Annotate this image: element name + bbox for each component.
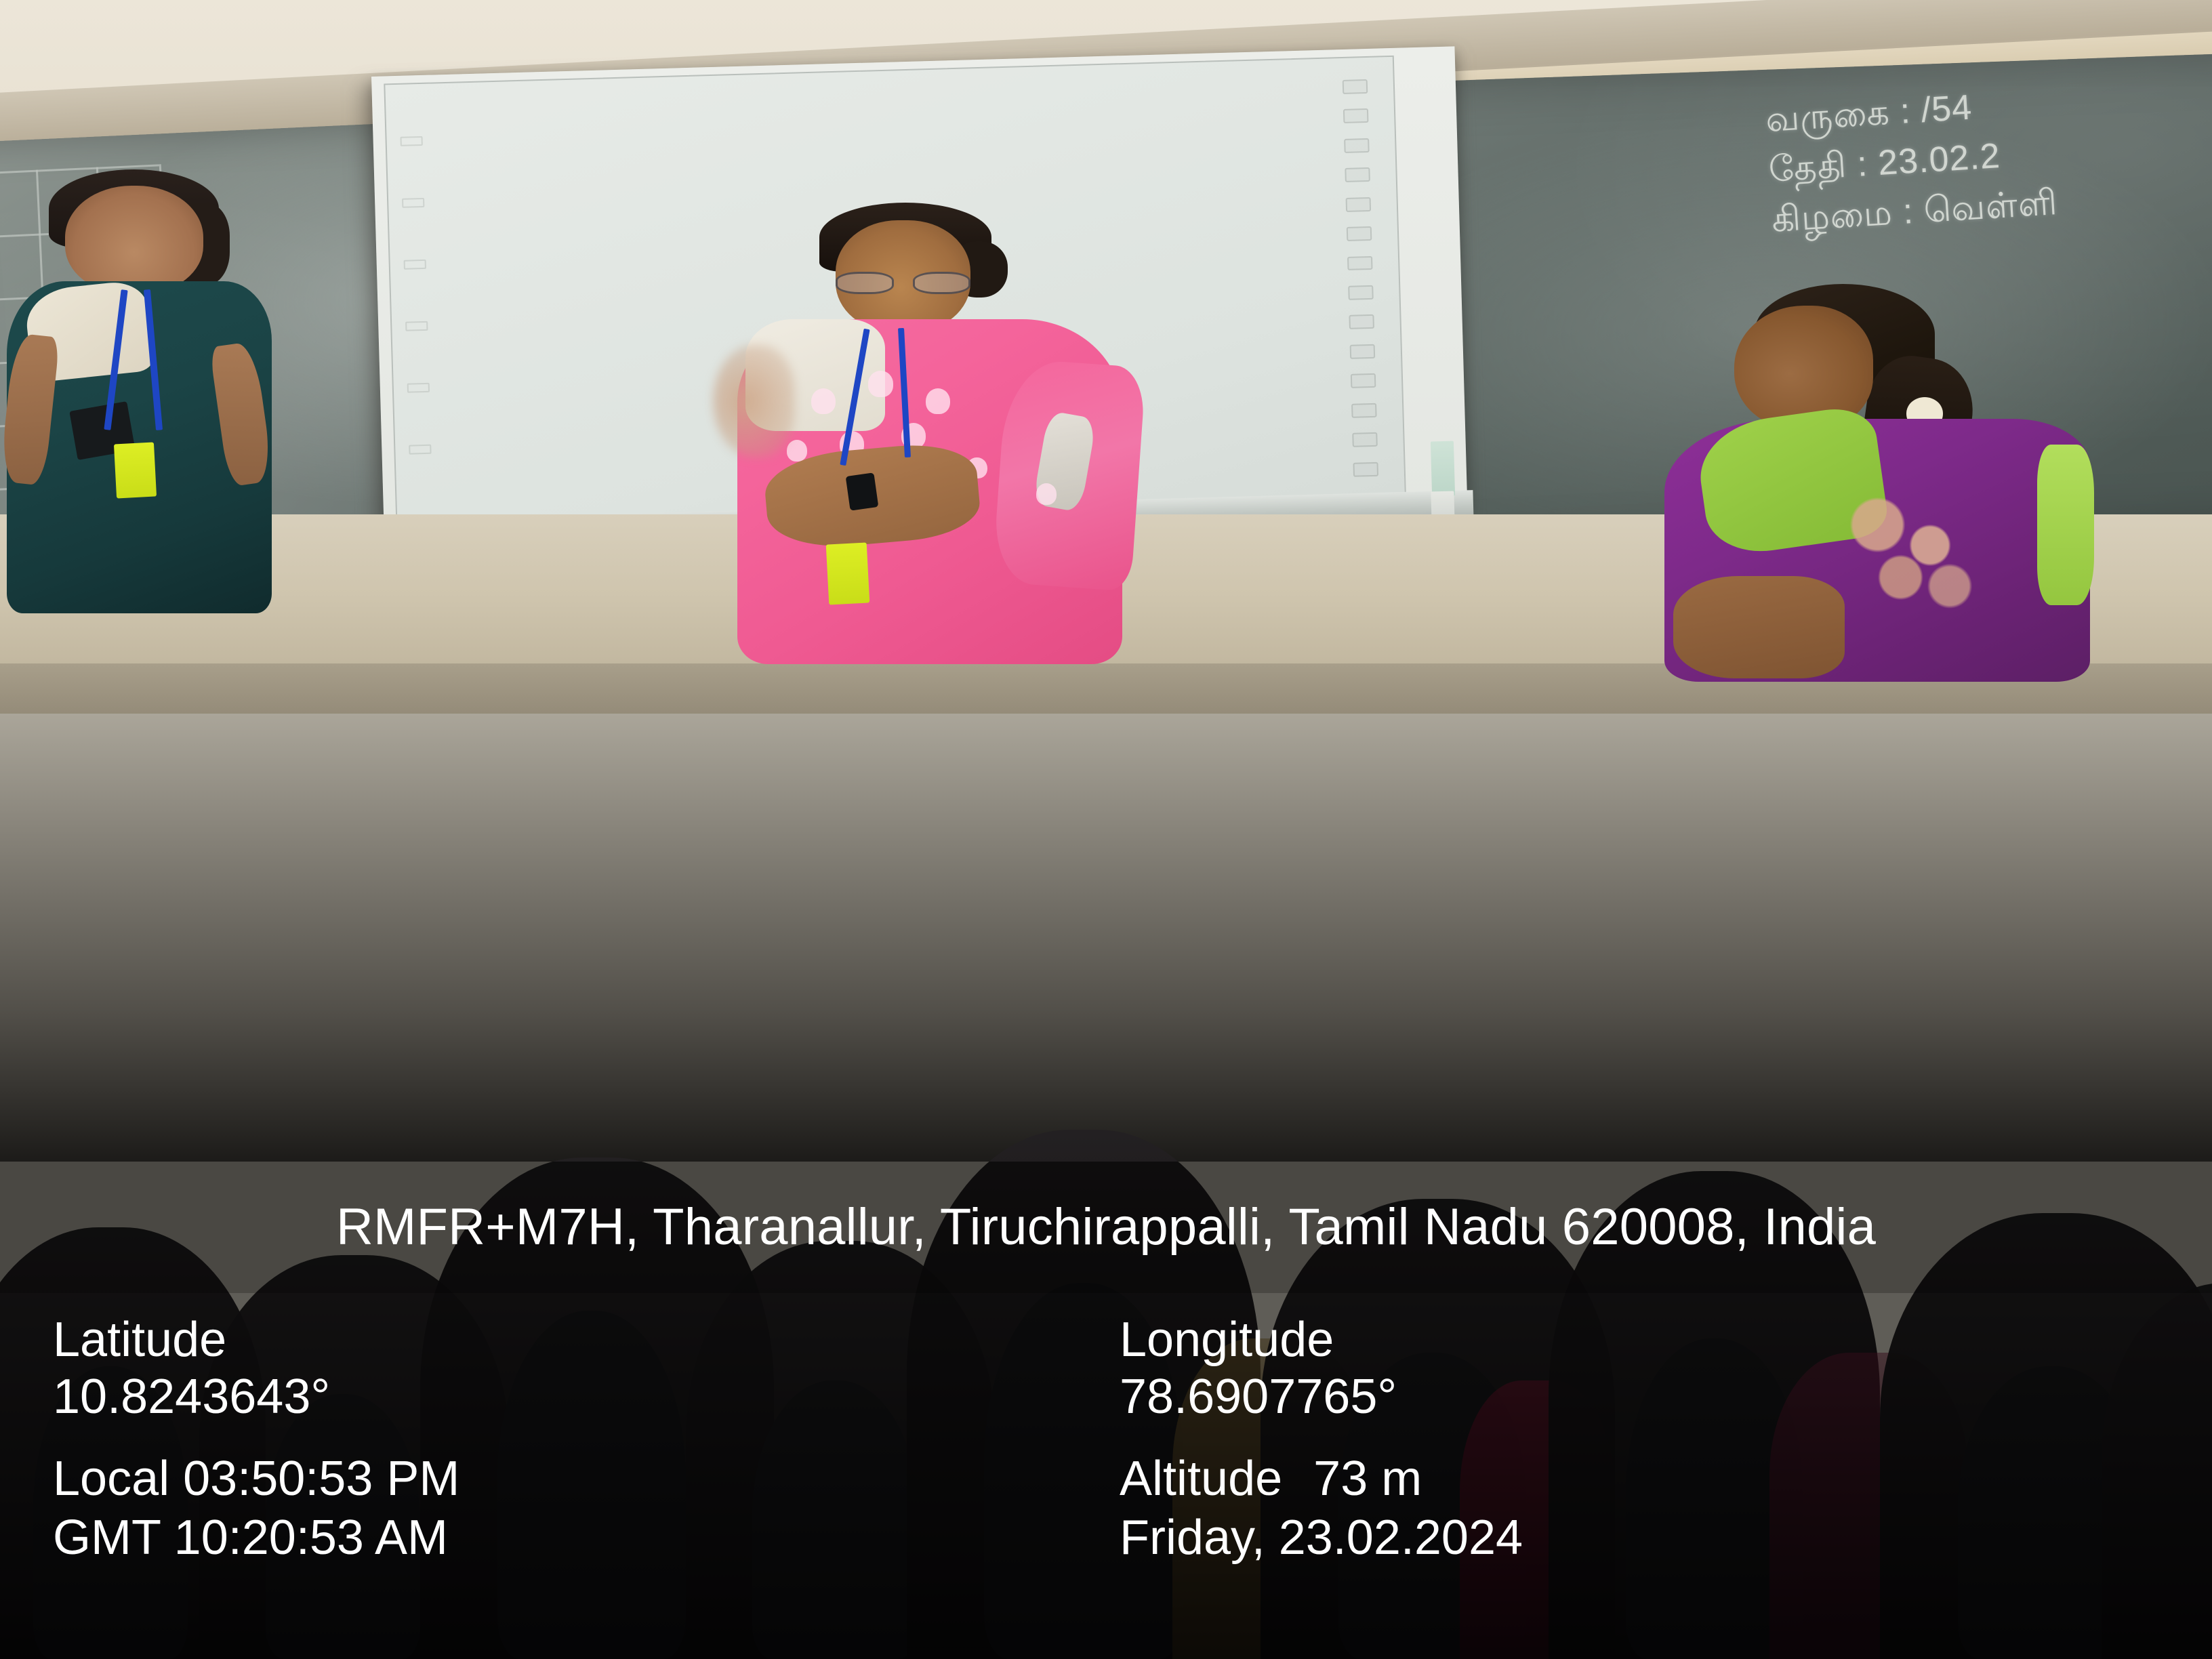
- altitude-label: Altitude: [1120, 1450, 1282, 1508]
- person-right: [1681, 299, 2091, 664]
- chalk-line-weekday: கிழமை : வெள்ளி: [1770, 163, 2212, 245]
- saree-motif: [868, 371, 893, 396]
- person-right-head: [1734, 306, 1873, 430]
- saree-motif: [787, 440, 807, 462]
- power-icon[interactable]: [1343, 79, 1368, 94]
- page-icon[interactable]: [1344, 138, 1370, 152]
- close-icon[interactable]: [1353, 462, 1379, 476]
- person-right-saree-floral-pattern: [1828, 481, 1992, 627]
- highlighter-icon[interactable]: [1347, 226, 1372, 241]
- person-left: [7, 186, 272, 600]
- longitude-value: 78.6907765°: [1120, 1369, 2159, 1426]
- eraser-tool-icon[interactable]: [1347, 255, 1373, 270]
- gmt-time: GMT 10:20:53 AM: [53, 1509, 1092, 1567]
- saree-motif: [926, 388, 950, 414]
- chalk-line-date: தேதி : 23.02.2: [1767, 114, 2212, 196]
- photo-screenshot: வருகை : /54 தேதி : 23.02.2 கிழமை : வெள்ள…: [0, 0, 2212, 1659]
- person-center-id-badge: [826, 542, 870, 605]
- zoom-icon[interactable]: [1351, 373, 1376, 388]
- shape-icon: [404, 260, 426, 270]
- latitude-value: 10.8243643°: [53, 1369, 1092, 1426]
- keyboard-icon[interactable]: [1352, 432, 1378, 447]
- date-text: Friday, 23.02.2024: [1120, 1509, 2159, 1567]
- longitude-label: Longitude: [1120, 1312, 2159, 1369]
- local-time: Local 03:50:53 PM: [53, 1450, 1092, 1508]
- latitude-label: Latitude: [53, 1312, 1092, 1369]
- gps-detail-grid: Latitude 10.8243643° Longitude 78.690776…: [0, 1293, 2212, 1659]
- grid-icon[interactable]: [1345, 167, 1371, 182]
- undo-icon: [406, 321, 428, 331]
- redo-icon: [407, 383, 430, 393]
- person-left-head: [65, 186, 203, 293]
- longitude-cell: Longitude 78.6907765°: [1120, 1312, 2159, 1425]
- marker-pen: [1431, 441, 1456, 497]
- person-right-saree-edge: [2037, 445, 2095, 605]
- settings-icon[interactable]: [1351, 403, 1377, 417]
- gps-info-overlay: RMFR+M7H, Tharanallur, Tiruchirappalli, …: [0, 1162, 2212, 1659]
- person-left-id-badge: [114, 442, 157, 498]
- altitude-value: 73 m: [1313, 1450, 1422, 1508]
- address-text: RMFR+M7H, Tharanallur, Tiruchirappalli, …: [336, 1197, 1876, 1256]
- whiteboard-left-icon-strip: [398, 110, 434, 480]
- eyeglasses-icon: [836, 272, 970, 290]
- chalkboard-tamil-text: வருகை : /54 தேதி : 23.02.2 கிழமை : வெள்ள…: [1764, 64, 2212, 245]
- time-cell: Local 03:50:53 PM GMT 10:20:53 AM: [53, 1450, 1092, 1567]
- pen-icon: [401, 136, 423, 146]
- altitude-row: Altitude 73 m: [1120, 1450, 2159, 1508]
- whiteboard-right-toolbar[interactable]: [1337, 75, 1385, 480]
- select-icon[interactable]: [1348, 285, 1374, 300]
- save-icon: [409, 445, 432, 455]
- person-center: [721, 216, 1130, 647]
- wristwatch-icon: [846, 472, 879, 510]
- pen-tool-icon[interactable]: [1346, 197, 1372, 211]
- saree-motif: [811, 388, 836, 414]
- latitude-cell: Latitude 10.8243643°: [53, 1312, 1092, 1425]
- text-icon[interactable]: [1350, 344, 1376, 359]
- altitude-date-cell: Altitude 73 m Friday, 23.02.2024: [1120, 1450, 2159, 1567]
- eraser-icon: [403, 198, 425, 208]
- person-right-arm: [1673, 576, 1845, 678]
- menu-icon[interactable]: [1343, 108, 1369, 123]
- shapes-icon[interactable]: [1349, 314, 1375, 329]
- address-bar: RMFR+M7H, Tharanallur, Tiruchirappalli, …: [0, 1162, 2212, 1294]
- saree-motif: [1036, 483, 1057, 505]
- person-center-raised-hand: [713, 345, 795, 457]
- chalk-line-attendance: வருகை : /54: [1764, 64, 2212, 146]
